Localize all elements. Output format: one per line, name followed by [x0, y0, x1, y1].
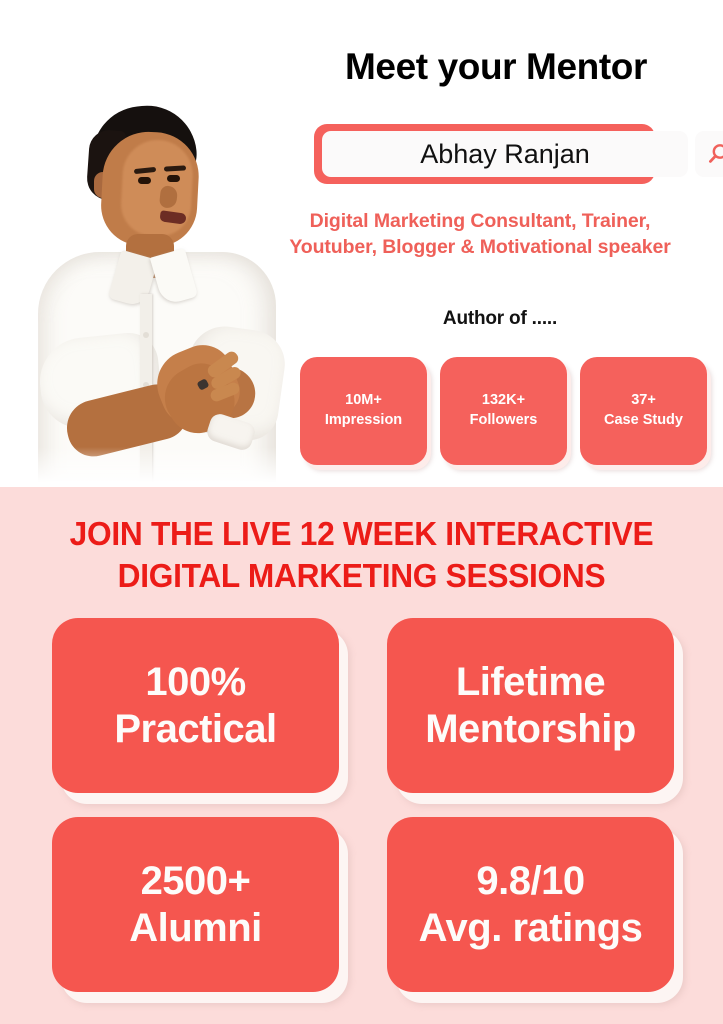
photo-shirt-button — [143, 332, 149, 338]
photo-eye-left — [138, 177, 151, 184]
page-title: Meet your Mentor — [286, 46, 706, 88]
feature-line-2: Avg. ratings — [419, 906, 643, 950]
subtitle-line-1: Digital Marketing Consultant, Trainer, — [310, 210, 651, 232]
stat-card-impression[interactable]: 10M+ Impression — [300, 357, 427, 465]
mentor-photo — [10, 96, 295, 487]
feature-card-mentorship[interactable]: Lifetime Mentorship — [387, 618, 674, 793]
photo-bottom-fade — [10, 447, 295, 487]
promo-section: JOIN THE LIVE 12 WEEK INTERACTIVE DIGITA… — [0, 487, 723, 1024]
subtitle-line-2: Youtuber, Blogger & Motivational speaker — [289, 236, 670, 258]
feature-grid: 100% Practical Lifetime Mentorship 2500+… — [52, 618, 674, 992]
mentor-subtitle: Digital Marketing Consultant, Trainer, Y… — [243, 209, 717, 261]
stats-row: 10M+ Impression 132K+ Followers 37+ Case… — [300, 357, 707, 465]
stat-label: Impression — [325, 412, 402, 428]
author-of-label: Author of ..... — [300, 308, 700, 330]
search-input[interactable] — [322, 131, 688, 177]
promo-heading-line-2: DIGITAL MARKETING SESSIONS — [118, 557, 606, 594]
feature-line-1: 9.8/10 — [476, 859, 584, 903]
search-bar[interactable] — [314, 124, 655, 184]
search-icon — [705, 141, 723, 167]
search-button[interactable] — [695, 131, 723, 177]
stat-value: 10M+ — [345, 392, 382, 408]
stat-card-followers[interactable]: 132K+ Followers — [440, 357, 567, 465]
stat-value: 37+ — [631, 392, 656, 408]
feature-line-2: Mentorship — [425, 707, 636, 751]
photo-eye-right — [167, 175, 180, 182]
stat-label: Case Study — [604, 412, 683, 428]
poster-page: Meet your Mentor Digital Marketing Consu… — [0, 0, 723, 1024]
feature-line-2: Practical — [114, 707, 276, 751]
feature-line-1: 2500+ — [141, 859, 251, 903]
promo-heading-line-1: JOIN THE LIVE 12 WEEK INTERACTIVE — [70, 515, 654, 552]
feature-line-2: Alumni — [129, 906, 262, 950]
feature-card-practical[interactable]: 100% Practical — [52, 618, 339, 793]
stat-value: 132K+ — [482, 392, 525, 408]
feature-line-1: 100% — [145, 660, 245, 704]
hero-section: Meet your Mentor Digital Marketing Consu… — [0, 0, 723, 487]
feature-line-1: Lifetime — [456, 660, 605, 704]
promo-heading: JOIN THE LIVE 12 WEEK INTERACTIVE DIGITA… — [30, 513, 693, 596]
feature-card-alumni[interactable]: 2500+ Alumni — [52, 817, 339, 992]
stat-card-case-study[interactable]: 37+ Case Study — [580, 357, 707, 465]
feature-card-ratings[interactable]: 9.8/10 Avg. ratings — [387, 817, 674, 992]
stat-label: Followers — [470, 412, 538, 428]
